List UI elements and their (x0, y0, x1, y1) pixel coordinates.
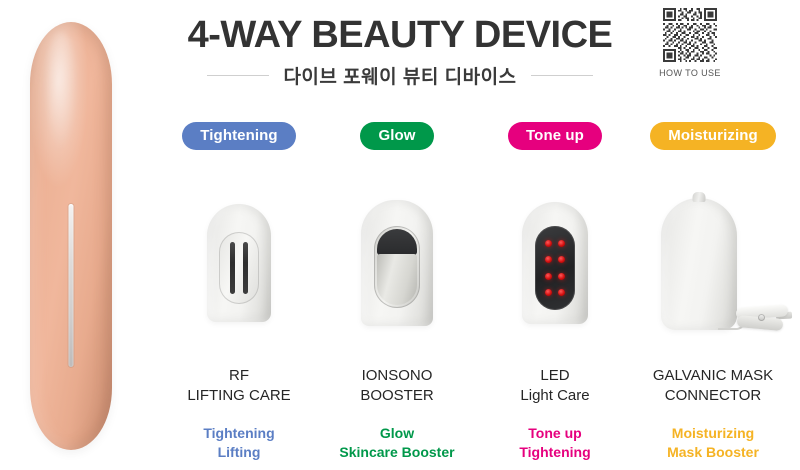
led-dot (558, 240, 565, 247)
galvanic-mask-connector-icon (634, 192, 792, 352)
product-name-line1: LED (540, 367, 569, 384)
handle-control-slot (69, 204, 74, 367)
galvanic-dome (661, 198, 737, 330)
subtitle-row: 다이브 포웨이 뷰티 디바이스 (160, 62, 640, 89)
how-to-use-label: HOW TO USE (652, 68, 728, 78)
galvanic-top-nub (693, 192, 706, 202)
product-name-ionsono: IONSONO BOOSTER (360, 366, 433, 406)
subtitle-rule-left (207, 75, 269, 76)
effect-line2: Tightening (519, 443, 590, 462)
led-dot (558, 289, 565, 296)
effect-line2: Mask Booster (667, 443, 759, 462)
rf-head-icon (160, 192, 318, 352)
ionsono-plate (374, 226, 420, 308)
product-name-line2: CONNECTOR (653, 386, 773, 406)
effect-line2: Skincare Booster (339, 443, 454, 462)
product-name-galvanic: GALVANIC MASK CONNECTOR (653, 366, 773, 406)
product-name-line1: RF (229, 367, 249, 384)
product-name-line2: Light Care (520, 386, 589, 406)
effect-line1: Tone up (528, 425, 581, 441)
product-effect-ionsono: Glow Skincare Booster (339, 424, 454, 462)
badge-glow[interactable]: Glow (360, 122, 433, 150)
led-dot (558, 256, 565, 263)
galvanic-clip (736, 304, 792, 332)
product-name-line1: IONSONO (362, 367, 433, 384)
subtitle-rule-right (531, 75, 593, 76)
ionsono-head-icon (318, 192, 476, 352)
badge-tightening[interactable]: Tightening (182, 122, 295, 150)
qr-code-icon[interactable] (663, 8, 717, 62)
product-name-line2: BOOSTER (360, 386, 433, 406)
product-name-line2: LIFTING CARE (187, 386, 290, 406)
ionsono-metal-section (377, 254, 417, 305)
product-column-rf: Tightening RF LIFTING CARE Tightening Li… (160, 122, 318, 462)
product-column-ionsono: Glow IONSONO BOOSTER Glow Skincare Boost… (318, 122, 476, 462)
led-panel (535, 226, 575, 310)
effect-line2: Lifting (203, 443, 274, 462)
product-column-galvanic: Moisturizing GALVANIC MASK CONNECTOR Moi… (634, 122, 792, 462)
led-head-icon (476, 192, 634, 352)
product-columns: Tightening RF LIFTING CARE Tightening Li… (160, 122, 790, 462)
page-title: 4-WAY BEAUTY DEVICE (160, 14, 640, 57)
product-effect-led: Tone up Tightening (519, 424, 590, 462)
galvanic-clip-pivot (758, 314, 765, 321)
rf-plate (219, 232, 259, 304)
product-column-led: Tone up LED Light Care Ton (476, 122, 634, 462)
product-name-rf: RF LIFTING CARE (187, 366, 290, 406)
page-subtitle: 다이브 포웨이 뷰티 디바이스 (283, 62, 516, 89)
badge-tone-up[interactable]: Tone up (508, 122, 602, 150)
product-effect-galvanic: Moisturizing Mask Booster (667, 424, 759, 462)
effect-line1: Moisturizing (672, 425, 754, 441)
led-dot (558, 273, 565, 280)
led-dot (545, 240, 552, 247)
effect-line1: Tightening (203, 425, 274, 441)
product-name-line1: GALVANIC MASK (653, 367, 773, 384)
led-dot (545, 289, 552, 296)
how-to-use-block[interactable]: HOW TO USE (652, 8, 728, 78)
badge-moisturizing[interactable]: Moisturizing (650, 122, 776, 150)
product-effect-rf: Tightening Lifting (203, 424, 274, 462)
led-dot (545, 256, 552, 263)
product-infographic: 4-WAY BEAUTY DEVICE 다이브 포웨이 뷰티 디바이스 (0, 0, 800, 470)
rf-electrode-bar-left (230, 242, 235, 294)
rf-electrode-bar-right (243, 242, 248, 294)
main-device-handle (30, 22, 112, 450)
led-dot (545, 273, 552, 280)
product-name-led: LED Light Care (520, 366, 589, 406)
ionsono-dark-section (377, 229, 417, 255)
effect-line1: Glow (380, 425, 414, 441)
handle-highlight (44, 32, 78, 152)
